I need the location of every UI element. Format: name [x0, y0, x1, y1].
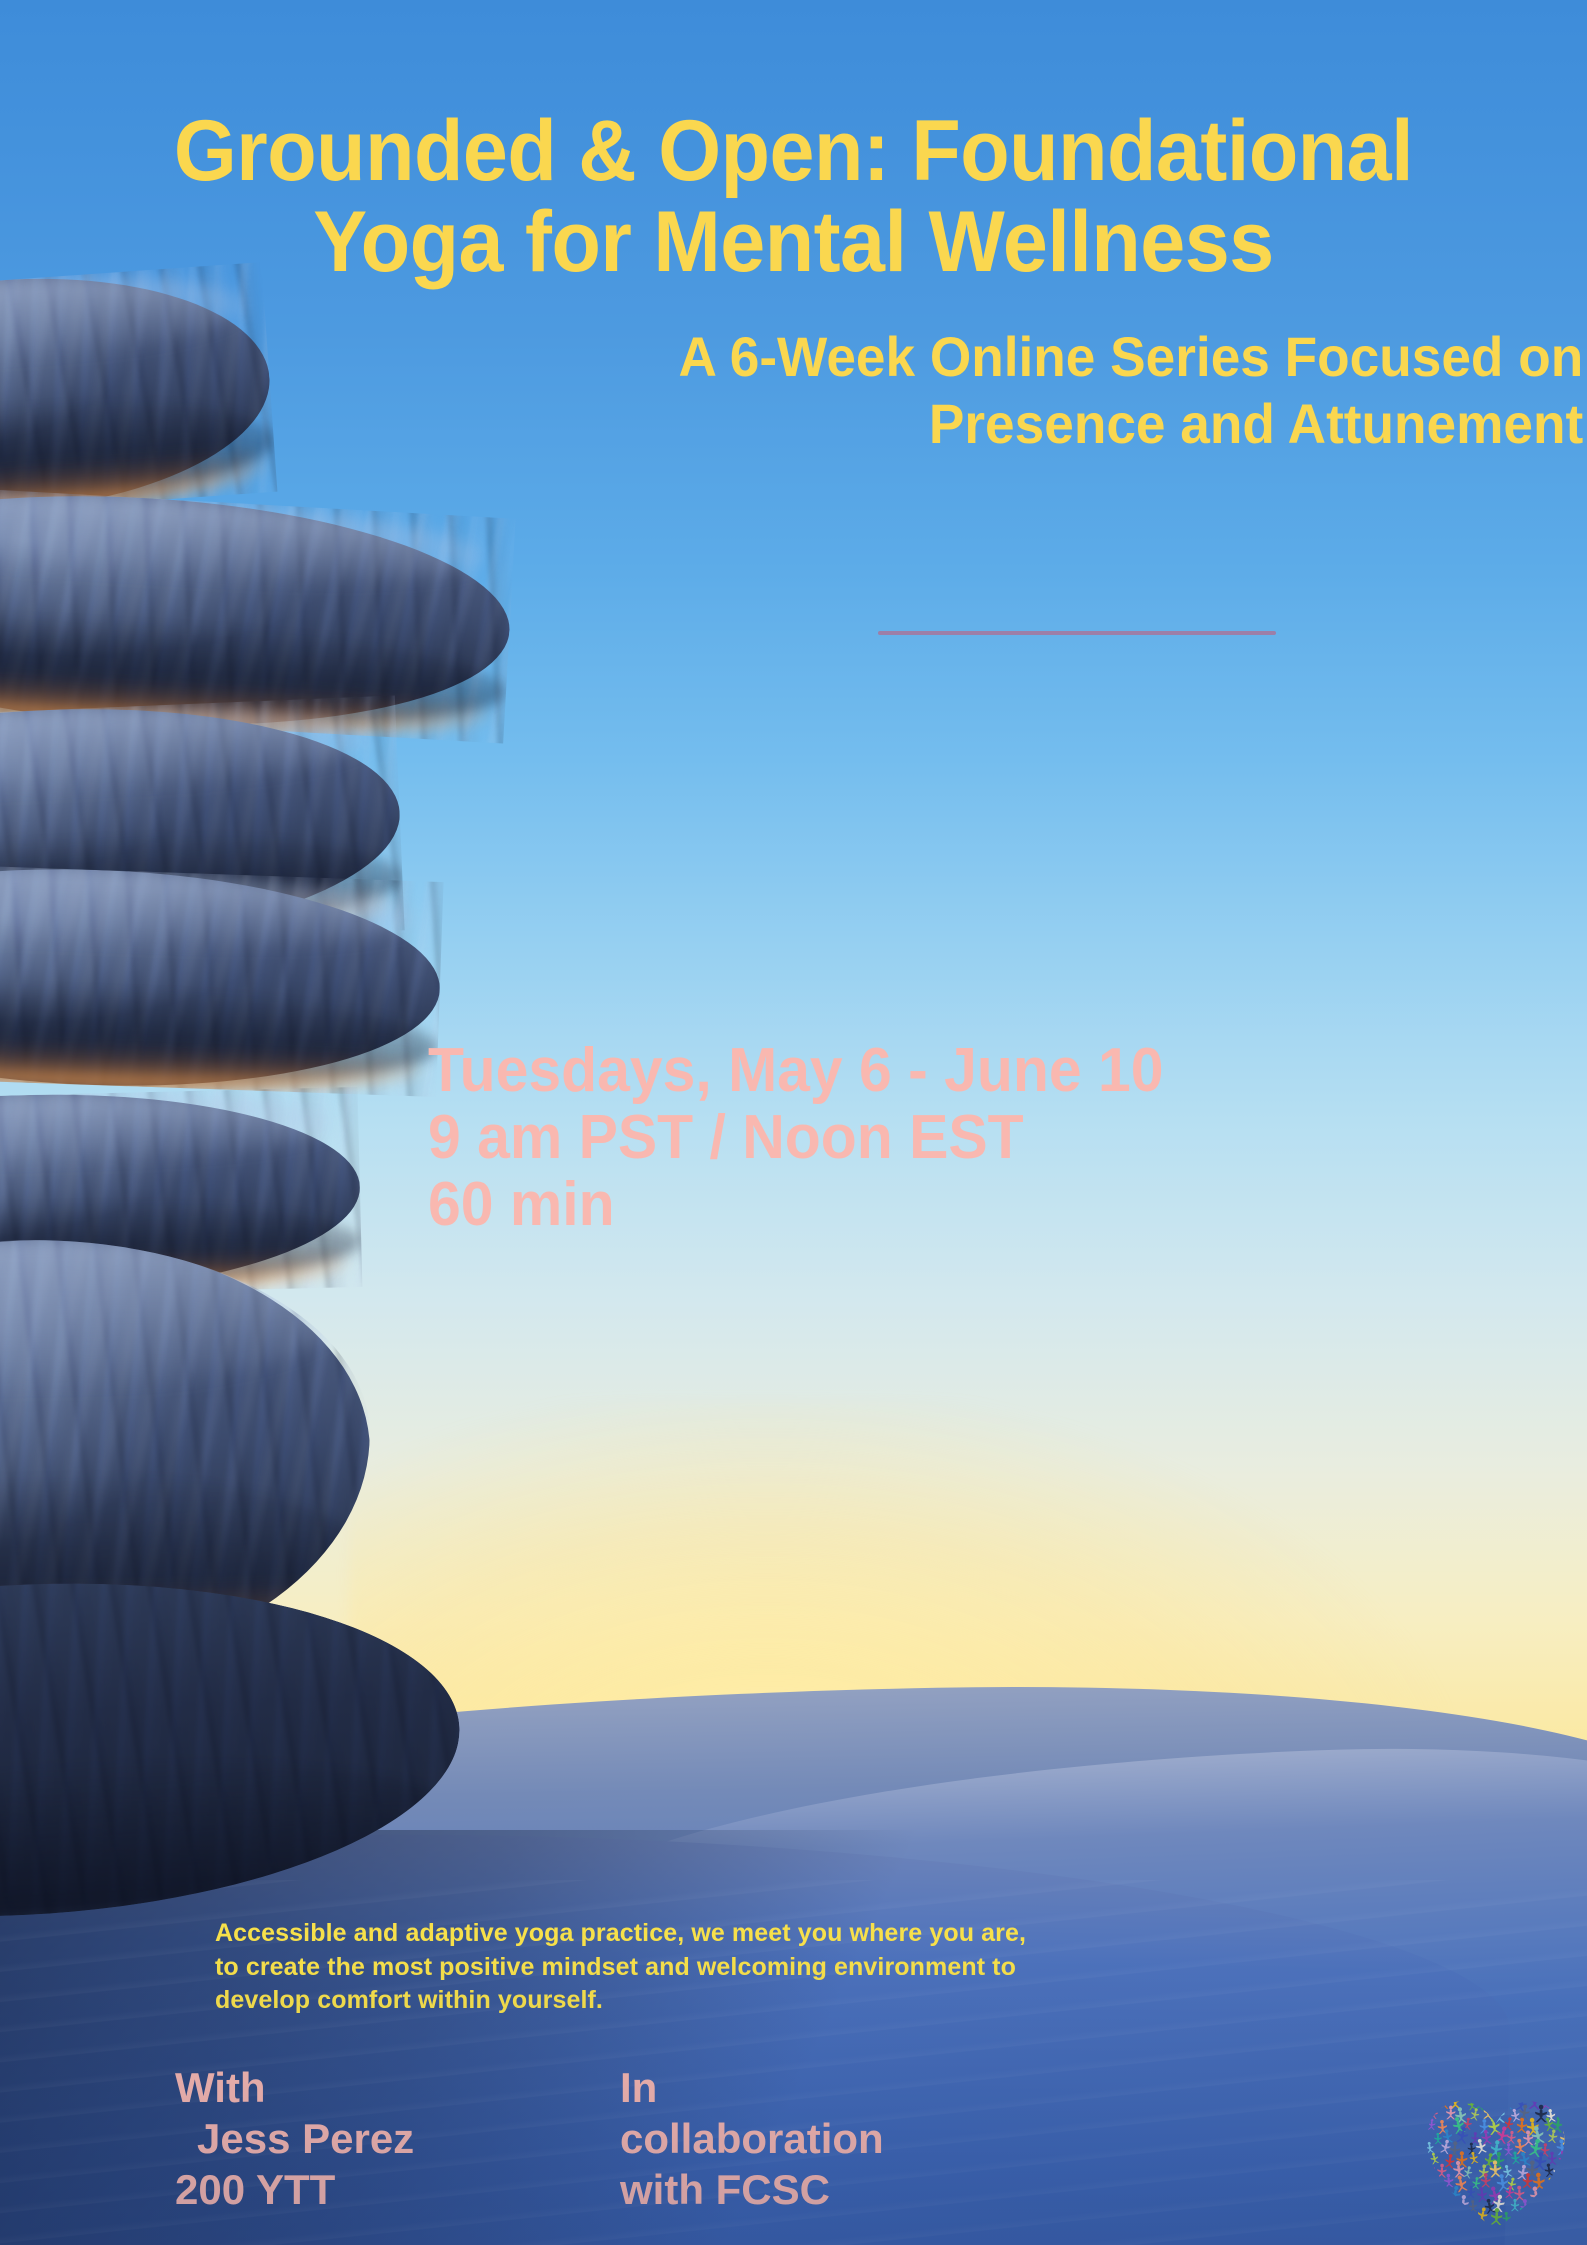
heart-of-yoga-figures-logo-icon — [1418, 2088, 1573, 2238]
poster-title-line-1: Grounded & Open: Foundational — [174, 103, 1413, 199]
collaboration-partner: with FCSC — [620, 2164, 884, 2215]
collaboration-credit-line-2: collaboration — [620, 2113, 884, 2164]
poster-subtitle: A 6-Week Online Series Focused on Presen… — [364, 324, 1587, 456]
schedule-dates: Tuesdays, May 6 - June 10 — [428, 1038, 1529, 1105]
poster-subtitle-line-1: A 6-Week Online Series Focused on — [679, 325, 1584, 388]
cairn-stone-7-base — [0, 1562, 468, 1938]
horizontal-divider-rule — [878, 631, 1276, 635]
poster-subtitle-line-2: Presence and Attunement — [364, 391, 1583, 457]
poster-title: Grounded & Open: Foundational Yoga for M… — [48, 106, 1540, 288]
instructor-name: Jess Perez — [175, 2113, 414, 2164]
collaboration-credit-line-1: In — [620, 2062, 884, 2113]
instructor-credit-line-1: With — [175, 2062, 414, 2113]
instructor-credit: With Jess Perez 200 YTT — [175, 2062, 414, 2216]
description-paragraph: Accessible and adaptive yoga practice, w… — [215, 1917, 1365, 2018]
description-line-3: develop comfort within yourself. — [215, 1984, 1365, 2018]
instructor-certification: 200 YTT — [175, 2164, 414, 2215]
cairn-stone-4 — [0, 858, 444, 1097]
poster-canvas: Grounded & Open: Foundational Yoga for M… — [0, 0, 1587, 2245]
collaboration-credit: In collaboration with FCSC — [620, 2062, 884, 2216]
schedule-block: Tuesdays, May 6 - June 10 9 am PST / Noo… — [428, 1038, 1529, 1239]
description-line-1: Accessible and adaptive yoga practice, w… — [215, 1917, 1365, 1951]
description-line-2: to create the most positive mindset and … — [215, 1951, 1365, 1985]
schedule-times: 9 am PST / Noon EST — [428, 1105, 1529, 1172]
poster-title-line-2: Yoga for Mental Wellness — [48, 197, 1540, 288]
schedule-duration: 60 min — [428, 1172, 1529, 1239]
cairn-stone-1 — [0, 262, 277, 528]
